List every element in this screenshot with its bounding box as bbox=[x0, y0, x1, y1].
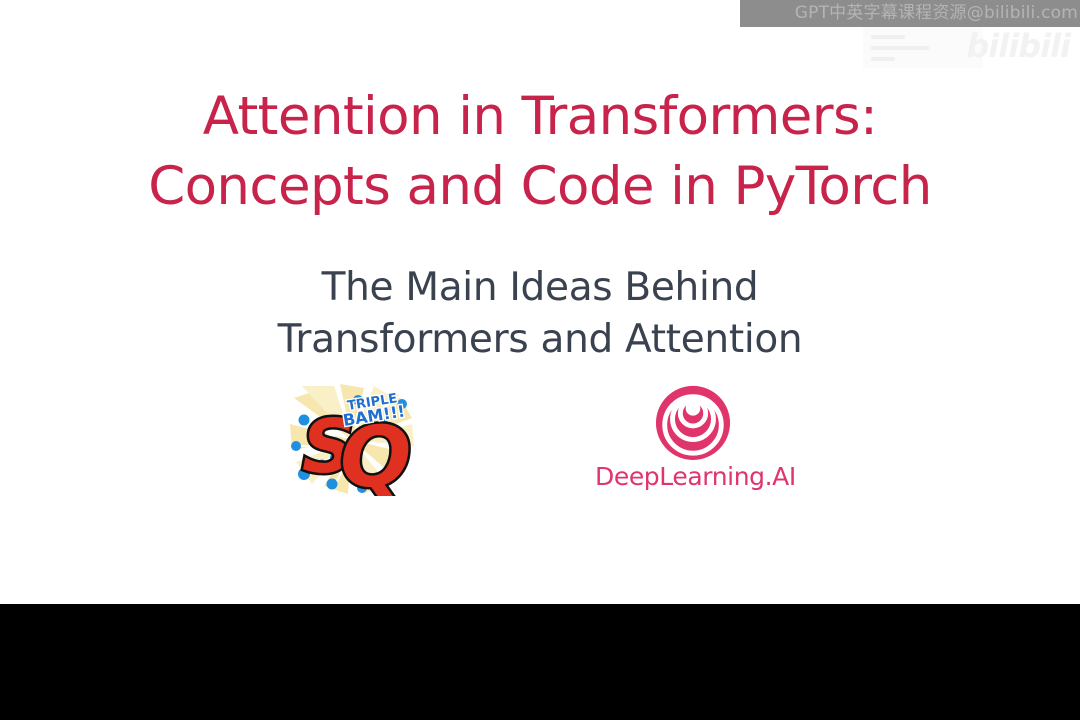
ghost-line-3 bbox=[871, 57, 895, 61]
watermark-ghost-box bbox=[863, 27, 983, 68]
slide-subtitle: The Main Ideas Behind Transformers and A… bbox=[0, 262, 1080, 366]
slide-canvas: Attention in Transformers: Concepts and … bbox=[0, 0, 1080, 604]
watermark-banner-text: GPT中英字幕课程资源@bilibili.com bbox=[795, 0, 1078, 27]
watermark-banner: GPT中英字幕课程资源@bilibili.com bbox=[740, 0, 1080, 27]
letterbox-bottom-bar bbox=[0, 604, 1080, 720]
subtitle-line-2: Transformers and Attention bbox=[0, 314, 1080, 366]
ripple-mark-icon bbox=[654, 382, 732, 460]
ghost-line-2 bbox=[871, 46, 929, 50]
slide-title: Attention in Transformers: Concepts and … bbox=[0, 82, 1080, 222]
subtitle-line-1: The Main Ideas Behind bbox=[0, 262, 1080, 314]
title-line-1: Attention in Transformers: bbox=[0, 82, 1080, 152]
title-line-2: Concepts and Code in PyTorch bbox=[0, 152, 1080, 222]
watermark-ghost-lines bbox=[871, 35, 975, 68]
deeplearning-ai-logo: DeepLearning.AI bbox=[595, 382, 790, 497]
ghost-line-1 bbox=[871, 35, 905, 39]
bilibili-wordmark-watermark: bilibili bbox=[966, 26, 1070, 66]
deeplearning-ai-wordmark: DeepLearning.AI bbox=[595, 461, 790, 493]
statquest-logo: S Q TRIPLE BAM!!! bbox=[288, 384, 416, 496]
video-player-screen: Attention in Transformers: Concepts and … bbox=[0, 0, 1080, 720]
logo-row: S Q TRIPLE BAM!!! bbox=[0, 382, 1080, 512]
